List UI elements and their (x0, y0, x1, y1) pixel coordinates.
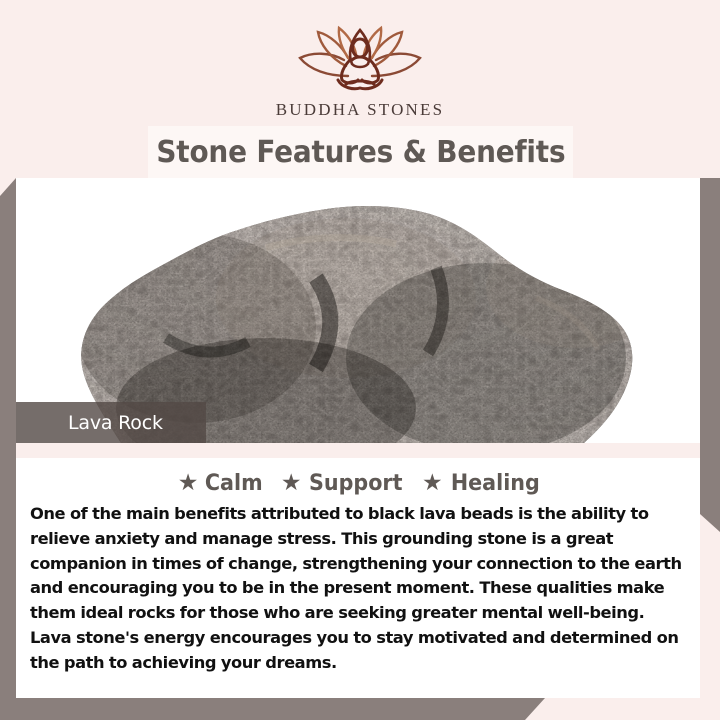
frame-band-bottom (0, 698, 545, 720)
title-plate: Stone Features & Benefits (148, 126, 573, 178)
card-header: BUDDHA STONES Stone Features & Benefits (0, 0, 720, 178)
benefit-tag-support: ★ Support (281, 471, 406, 496)
brand-name: BUDDHA STONES (276, 100, 445, 120)
benefits-panel: ★ Calm ★ Support ★ Healing One of the ma… (16, 458, 700, 698)
star-icon: ★ (178, 471, 199, 494)
benefit-tags: ★ Calm ★ Support ★ Healing (30, 471, 690, 496)
brand-logo: BUDDHA STONES (0, 22, 720, 120)
benefit-label-healing: Healing (450, 471, 539, 496)
star-icon: ★ (281, 471, 302, 494)
frame-band-left (0, 178, 16, 720)
page-title: Stone Features & Benefits (156, 135, 565, 170)
section-divider (16, 443, 700, 458)
benefit-label-calm: Calm (205, 471, 263, 496)
stone-features-card: BUDDHA STONES Stone Features & Benefits (0, 0, 720, 720)
lotus-meditation-icon (276, 22, 444, 94)
benefits-description: One of the main benefits attributed to b… (30, 502, 690, 675)
star-icon: ★ (422, 471, 443, 494)
benefit-tag-healing: ★ Healing (422, 471, 542, 496)
benefit-label-support: Support (309, 471, 403, 496)
benefit-tag-calm: ★ Calm (178, 471, 265, 496)
photo-caption: Lava Rock (16, 412, 163, 434)
photo-caption-band: Lava Rock (16, 402, 206, 444)
